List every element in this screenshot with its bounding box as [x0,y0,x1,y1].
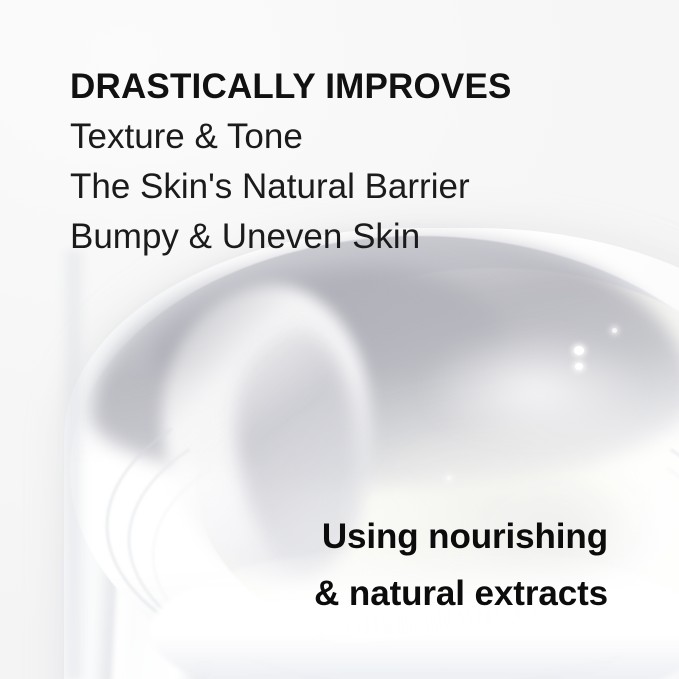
benefit-line-1: Texture & Tone [70,112,512,162]
benefit-line-2: The Skin's Natural Barrier [70,162,512,212]
headline-block: DRASTICALLY IMPROVES Texture & Tone The … [70,62,512,262]
caption-block: Using nourishing & natural extracts [314,508,608,622]
caption-line-1: Using nourishing [314,508,608,565]
benefit-line-3: Bumpy & Uneven Skin [70,212,512,262]
headline: DRASTICALLY IMPROVES [70,62,512,112]
caption-line-2: & natural extracts [314,565,608,622]
product-image-canvas: DRASTICALLY IMPROVES Texture & Tone The … [0,0,679,679]
marketing-text-overlay: DRASTICALLY IMPROVES Texture & Tone The … [0,0,679,679]
